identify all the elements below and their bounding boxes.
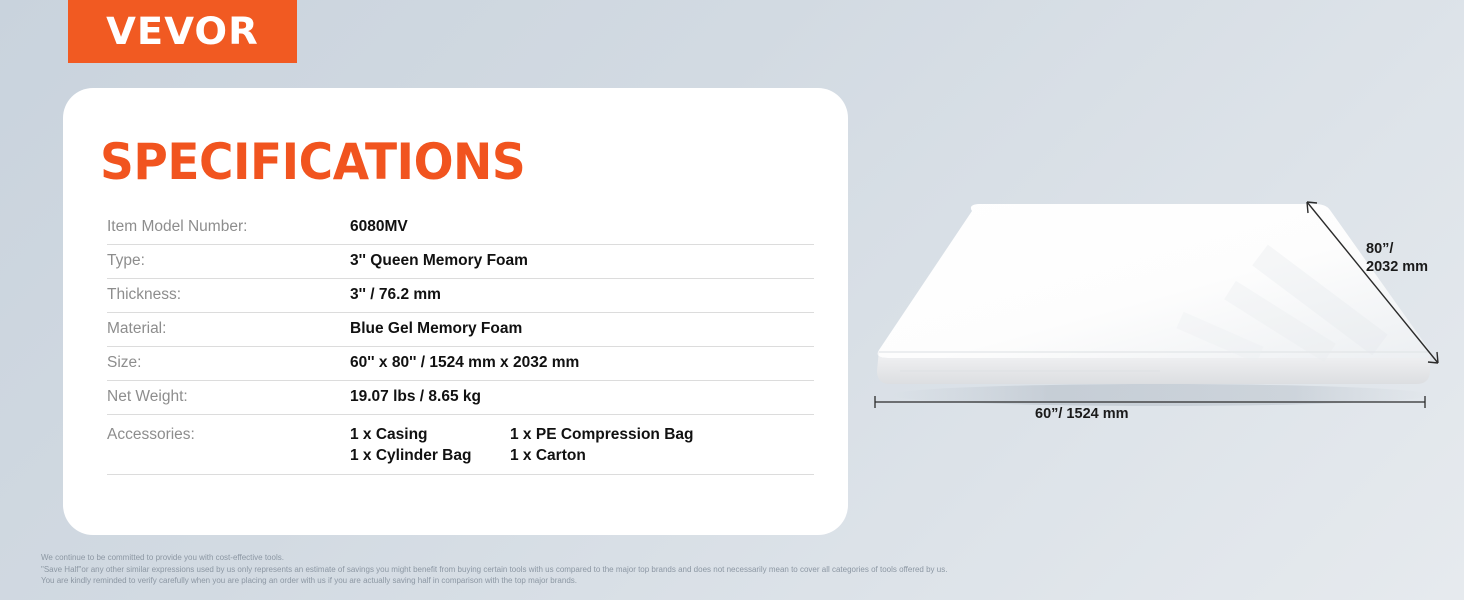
list-item: 1 x Cylinder Bag xyxy=(350,445,510,466)
width-dimension-label: 60”/ 1524 mm xyxy=(1035,405,1129,423)
product-image-area: 80”/ 2032 mm 60”/ 1524 mm xyxy=(855,150,1455,450)
depth-arrow-end-a xyxy=(1428,362,1438,363)
spec-value: 3'' Queen Memory Foam xyxy=(350,245,528,272)
table-row: Material: Blue Gel Memory Foam xyxy=(107,313,814,347)
spec-value: 19.07 lbs / 8.65 kg xyxy=(350,381,481,408)
spec-value: 6080MV xyxy=(350,211,408,238)
dimension-lines xyxy=(855,150,1455,450)
spec-value: 60'' x 80'' / 1524 mm x 2032 mm xyxy=(350,347,579,374)
specifications-card: SPECIFICATIONS Item Model Number: 6080MV… xyxy=(63,88,848,535)
spec-label: Thickness: xyxy=(107,279,350,306)
depth-arrow-start-b xyxy=(1307,202,1308,213)
table-row: Thickness: 3'' / 76.2 mm xyxy=(107,279,814,313)
spec-label: Item Model Number: xyxy=(107,211,350,238)
list-item: 1 x Carton xyxy=(510,445,750,466)
depth-dimension-line xyxy=(1307,202,1438,363)
depth-arrow-end-b xyxy=(1437,352,1438,363)
page-title: SPECIFICATIONS xyxy=(100,133,525,191)
spec-label: Size: xyxy=(107,347,350,374)
spec-value: Blue Gel Memory Foam xyxy=(350,313,522,340)
vevor-logo: VEVOR xyxy=(68,0,297,63)
spec-value: 3'' / 76.2 mm xyxy=(350,279,441,306)
disclaimer-line-1: We continue to be committed to provide y… xyxy=(41,552,1421,564)
disclaimer: We continue to be committed to provide y… xyxy=(41,552,1421,587)
spec-label: Type: xyxy=(107,245,350,272)
table-row: Size: 60'' x 80'' / 1524 mm x 2032 mm xyxy=(107,347,814,381)
table-row: Net Weight: 19.07 lbs / 8.65 kg xyxy=(107,381,814,415)
table-row: Item Model Number: 6080MV xyxy=(107,211,814,245)
disclaimer-line-3: You are kindly reminded to verify carefu… xyxy=(41,575,1421,587)
depth-dimension-label: 80”/ 2032 mm xyxy=(1366,240,1428,276)
table-row-accessories: Accessories: 1 x Casing 1 x PE Compressi… xyxy=(107,415,814,475)
table-row: Type: 3'' Queen Memory Foam xyxy=(107,245,814,279)
vevor-logo-text: VEVOR xyxy=(106,10,259,53)
spec-label: Net Weight: xyxy=(107,381,350,408)
specifications-table: Item Model Number: 6080MV Type: 3'' Quee… xyxy=(107,211,814,475)
list-item: 1 x PE Compression Bag xyxy=(510,424,750,445)
accessories-list: 1 x Casing 1 x PE Compression Bag 1 x Cy… xyxy=(350,419,770,466)
list-item: 1 x Casing xyxy=(350,424,510,445)
spec-label: Accessories: xyxy=(107,419,350,446)
depth-arrow-start-a xyxy=(1307,202,1317,203)
disclaimer-line-2: "Save Half"or any other similar expressi… xyxy=(41,564,1421,576)
spec-label: Material: xyxy=(107,313,350,340)
